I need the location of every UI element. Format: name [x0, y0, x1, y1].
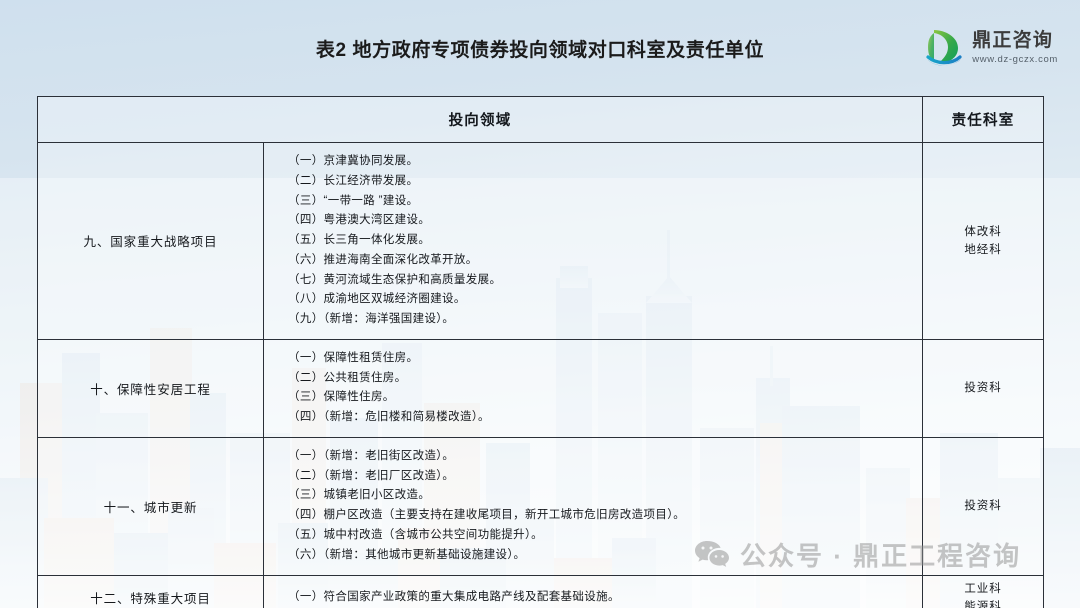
bond-fields-table: 投向领域 责任科室 九、国家重大战略项目（一）京津冀协同发展。（二）长江经济带发…: [37, 96, 1044, 608]
column-header-fields: 投向领域: [38, 97, 923, 143]
row-item: （四）粤港澳大湾区建设。: [288, 211, 908, 231]
row-items: （一）保障性租赁住房。（二）公共租赁住房。（三）保障性住房。（四）（新增：危旧楼…: [264, 339, 923, 437]
row-item: （一）（新增：老旧街区改造）。: [288, 447, 908, 467]
row-department: 投资科: [923, 437, 1044, 575]
department-name: 体改科: [927, 223, 1039, 241]
dingzheng-d-logo-icon: [925, 26, 965, 70]
department-name: 工业科: [927, 580, 1039, 598]
row-items: （一）（新增：老旧街区改造）。（二）（新增：老旧厂区改造）。（三）城镇老旧小区改…: [264, 437, 923, 575]
row-item: （一）符合国家产业政策的重大集成电路产线及配套基础设施。: [288, 588, 908, 608]
row-items: （一）符合国家产业政策的重大集成电路产线及配套基础设施。: [264, 575, 923, 608]
row-item: （四）（新增：危旧楼和简易楼改造）。: [288, 408, 908, 428]
table-container: 投向领域 责任科室 九、国家重大战略项目（一）京津冀协同发展。（二）长江经济带发…: [37, 96, 1043, 608]
row-item: （一）京津冀协同发展。: [288, 152, 908, 172]
table-row: 十、保障性安居工程（一）保障性租赁住房。（二）公共租赁住房。（三）保障性住房。（…: [38, 339, 1044, 437]
row-department: 工业科能源科: [923, 575, 1044, 608]
row-department: 投资科: [923, 339, 1044, 437]
brand-name: 鼎正咨询: [972, 31, 1058, 50]
column-header-department: 责任科室: [923, 97, 1044, 143]
department-name: 投资科: [927, 379, 1039, 397]
brand-text: 鼎正咨询 www.dz-gczx.com: [972, 31, 1058, 65]
row-item: （九）（新增：海洋强国建设）。: [288, 310, 908, 330]
table-header-row: 投向领域 责任科室: [38, 97, 1044, 143]
table-body: 九、国家重大战略项目（一）京津冀协同发展。（二）长江经济带发展。（三）“一带一路…: [38, 143, 1044, 608]
table-header: 投向领域 责任科室: [38, 97, 1044, 143]
page-header: 表2 地方政府专项债券投向领域对口科室及责任单位 鼎正咨询 www.dz: [0, 0, 1080, 96]
row-category: 十一、城市更新: [38, 437, 264, 575]
row-items: （一）京津冀协同发展。（二）长江经济带发展。（三）“一带一路 ”建设。（四）粤港…: [264, 143, 923, 340]
row-item: （三）“一带一路 ”建设。: [288, 192, 908, 212]
row-category: 十、保障性安居工程: [38, 339, 264, 437]
row-item: （五）长三角一体化发展。: [288, 231, 908, 251]
row-category: 十二、特殊重大项目: [38, 575, 264, 608]
row-item: （五）城中村改造（含城市公共空间功能提升）。: [288, 526, 908, 546]
department-name: 投资科: [927, 497, 1039, 515]
table-row: 十二、特殊重大项目（一）符合国家产业政策的重大集成电路产线及配套基础设施。工业科…: [38, 575, 1044, 608]
row-item: （二）（新增：老旧厂区改造）。: [288, 467, 908, 487]
row-category: 九、国家重大战略项目: [38, 143, 264, 340]
brand-url: www.dz-gczx.com: [972, 55, 1058, 65]
row-item: （四）棚户区改造（主要支持在建收尾项目，新开工城市危旧房改造项目）。: [288, 506, 908, 526]
table-row: 十一、城市更新（一）（新增：老旧街区改造）。（二）（新增：老旧厂区改造）。（三）…: [38, 437, 1044, 575]
row-item: （三）保障性住房。: [288, 388, 908, 408]
brand-logo: 鼎正咨询 www.dz-gczx.com: [925, 26, 1058, 70]
row-item: （六）（新增：其他城市更新基础设施建设）。: [288, 546, 908, 566]
department-name: 能源科: [927, 598, 1039, 608]
row-item: （二）长江经济带发展。: [288, 172, 908, 192]
page-title: 表2 地方政府专项债券投向领域对口科室及责任单位: [316, 35, 764, 62]
row-item: （一）保障性租赁住房。: [288, 349, 908, 369]
row-item: （六）推进海南全面深化改革开放。: [288, 251, 908, 271]
row-item: （三）城镇老旧小区改造。: [288, 486, 908, 506]
department-name: 地经科: [927, 241, 1039, 259]
table-row: 九、国家重大战略项目（一）京津冀协同发展。（二）长江经济带发展。（三）“一带一路…: [38, 143, 1044, 340]
row-item: （八）成渝地区双城经济圈建设。: [288, 290, 908, 310]
row-item: （二）公共租赁住房。: [288, 369, 908, 389]
row-department: 体改科地经科: [923, 143, 1044, 340]
row-item: （七）黄河流域生态保护和高质量发展。: [288, 271, 908, 291]
